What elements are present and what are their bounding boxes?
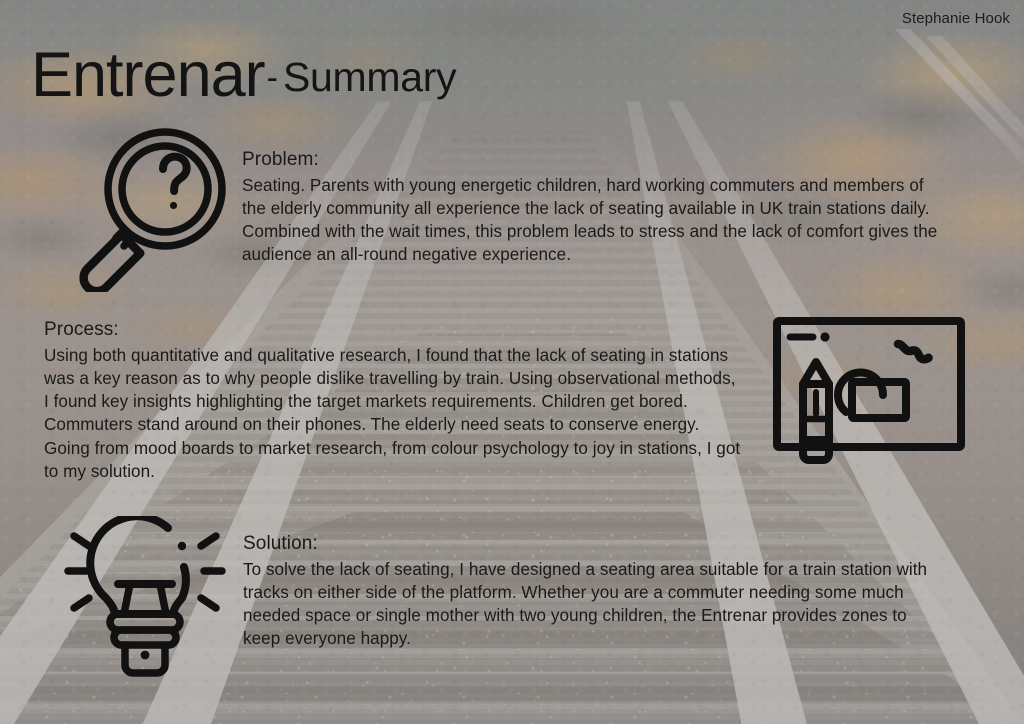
design-board-pencil-icon (772, 316, 966, 468)
page-title: Entrenar-Summary (31, 44, 456, 107)
problem-body: Seating. Parents with young energetic ch… (242, 174, 950, 267)
author-name: Stephanie Hook (902, 10, 1010, 27)
solution-section: Solution: To solve the lack of seating, … (243, 532, 937, 651)
slide-content: Stephanie Hook Entrenar-Summary Problem:… (0, 0, 1024, 724)
solution-body: To solve the lack of seating, I have des… (243, 558, 937, 651)
process-body: Using both quantitative and qualitative … (44, 344, 744, 483)
lightbulb-idea-icon (60, 516, 230, 682)
title-brand: Entrenar (31, 40, 265, 110)
title-dash: - (267, 59, 278, 97)
summary-slide: Stephanie Hook Entrenar-Summary Problem:… (0, 0, 1024, 724)
process-heading: Process: (44, 318, 744, 343)
problem-heading: Problem: (242, 148, 950, 173)
magnifier-question-icon (62, 128, 230, 292)
solution-heading: Solution: (243, 532, 937, 557)
problem-section: Problem: Seating. Parents with young ene… (242, 148, 950, 267)
process-section: Process: Using both quantitative and qua… (44, 318, 744, 483)
title-subtitle: Summary (283, 54, 456, 100)
